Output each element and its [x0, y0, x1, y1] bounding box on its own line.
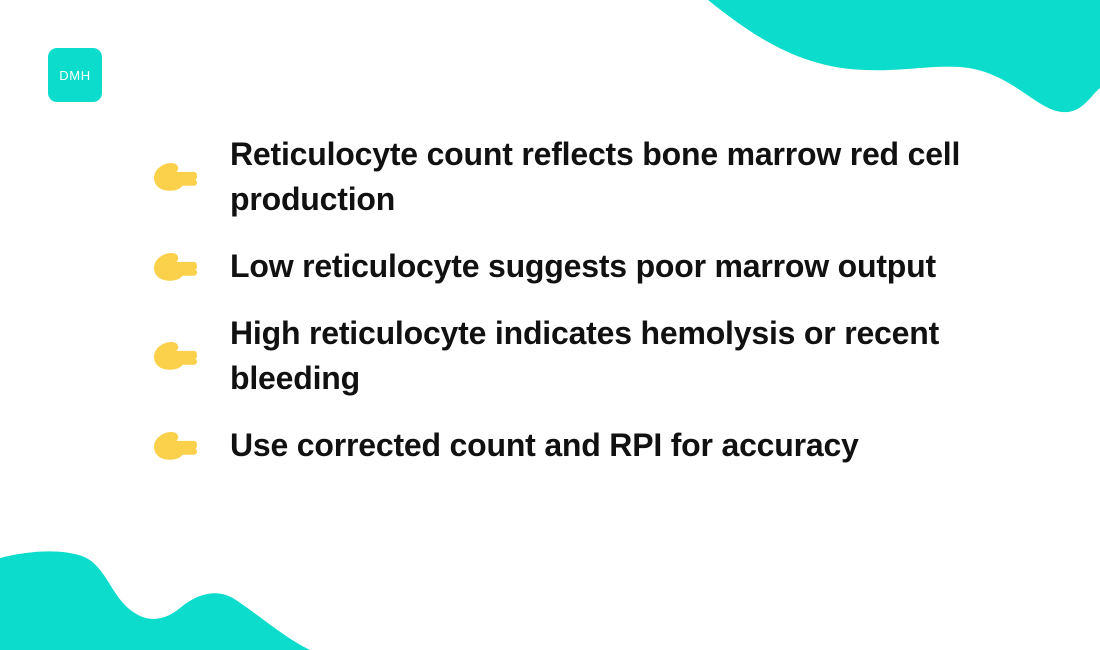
list-item: Low reticulocyte suggests poor marrow ou…	[150, 244, 1010, 289]
bullet-text: Use corrected count and RPI for accuracy	[230, 423, 992, 468]
dmh-logo-text: DMH	[59, 69, 90, 82]
dmh-logo[interactable]: DMH	[48, 48, 102, 102]
pointing-hand-icon	[150, 336, 202, 376]
bullet-text: Low reticulocyte suggests poor marrow ou…	[230, 244, 992, 289]
list-item: High reticulocyte indicates hemolysis or…	[150, 311, 1010, 401]
slide-canvas: DMH Reticulocyte count reflects bone mar…	[0, 0, 1100, 650]
bullet-text: Reticulocyte count reflects bone marrow …	[230, 132, 992, 222]
bullet-list: Reticulocyte count reflects bone marrow …	[150, 132, 1010, 468]
list-item: Use corrected count and RPI for accuracy	[150, 423, 1010, 468]
bottom-left-wave	[0, 540, 320, 650]
pointing-hand-icon	[150, 247, 202, 287]
pointing-hand-icon	[150, 157, 202, 197]
top-right-wave	[700, 0, 1100, 125]
list-item: Reticulocyte count reflects bone marrow …	[150, 132, 1010, 222]
bullet-text: High reticulocyte indicates hemolysis or…	[230, 311, 992, 401]
pointing-hand-icon	[150, 426, 202, 466]
